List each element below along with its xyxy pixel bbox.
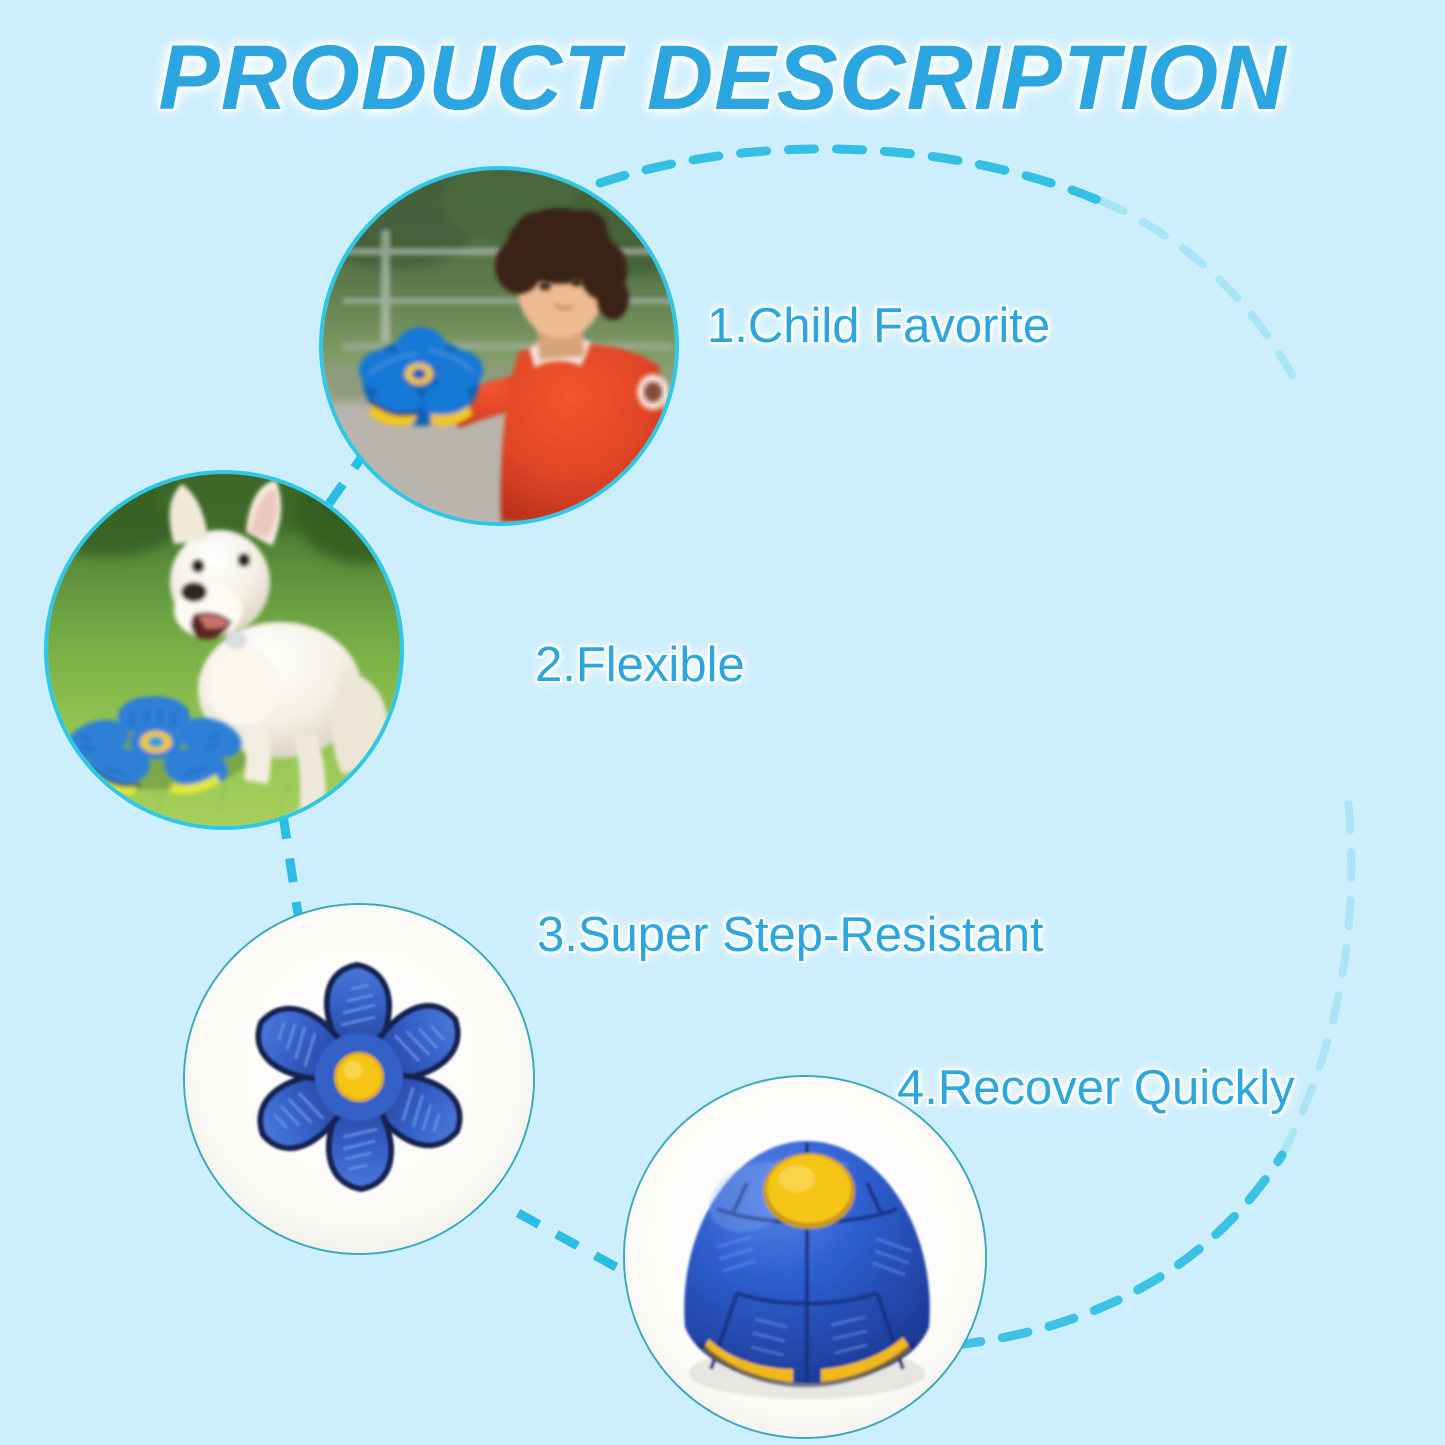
feature-label-flexible: 2.Flexible <box>535 637 745 693</box>
flat-disc-product-photo <box>185 905 533 1253</box>
connector-arc-top-right-fade <box>1100 200 1292 375</box>
feature-label-child-favorite: 1.Child Favorite <box>707 298 1050 354</box>
dome-ball-product-photo <box>625 1077 985 1437</box>
feature-image-recover-quickly <box>625 1077 985 1437</box>
feature-label-recover-quickly: 4.Recover Quickly <box>897 1060 1295 1116</box>
feature-label-super-step-resistant: 3.Super Step-Resistant <box>537 907 1044 963</box>
connector-arc-top-right <box>600 149 1110 205</box>
feature-image-child-favorite <box>323 170 675 522</box>
feature-image-super-step-resistant <box>185 905 533 1253</box>
page-title: PRODUCT DESCRIPTION <box>0 26 1445 131</box>
connector-arc-bottom-right <box>955 1155 1282 1345</box>
infographic-canvas: PRODUCT DESCRIPTION <box>0 0 1445 1445</box>
feature-image-flexible <box>48 474 400 826</box>
dog-running-to-flat-disc-photo <box>48 474 400 826</box>
child-holding-flying-saucer-ball-photo <box>323 170 675 522</box>
